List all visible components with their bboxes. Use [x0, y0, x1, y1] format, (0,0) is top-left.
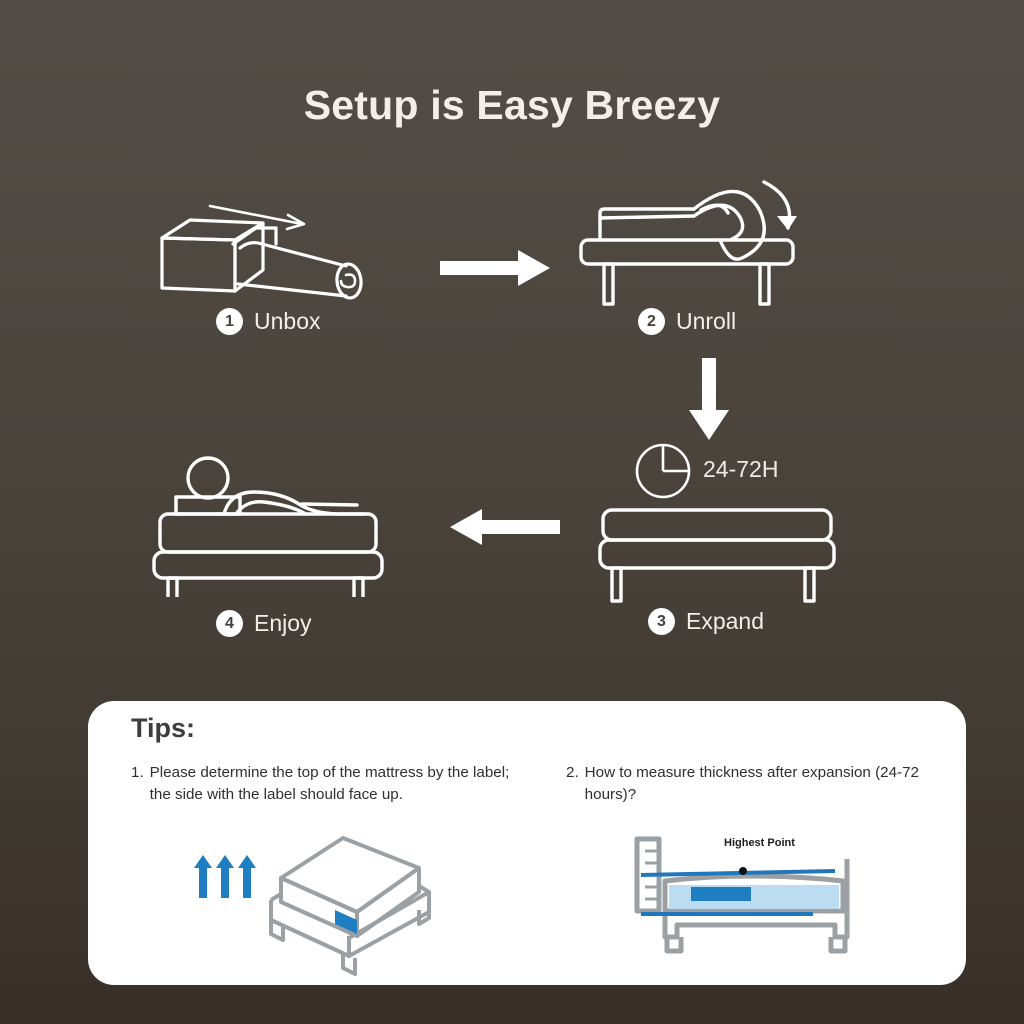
mattress-on-frame-with-label-icon	[183, 826, 433, 976]
step-3-badge: 3	[648, 608, 675, 635]
step-2-unroll: 2 Unroll	[578, 178, 848, 308]
tip-item-2: 2. How to measure thickness after expans…	[566, 762, 946, 807]
arrow-step2-to-step3	[687, 358, 731, 442]
step-4-badge: 4	[216, 610, 243, 637]
box-with-rolled-mattress-icon	[150, 178, 440, 308]
step-4-caption: 4 Enjoy	[216, 610, 312, 637]
page-title: Setup is Easy Breezy	[0, 82, 1024, 129]
tip-2-text: How to measure thickness after expansion…	[585, 762, 946, 807]
step-4-label: Enjoy	[254, 610, 312, 637]
mattress-label-tag-icon	[691, 887, 751, 901]
tip-1-number: 1.	[131, 762, 144, 807]
step-2-label: Unroll	[676, 308, 736, 335]
tips-card: Tips: 1. Please determine the top of the…	[88, 701, 966, 985]
arrow-step3-to-step4	[448, 509, 560, 545]
step-1-label: Unbox	[254, 308, 320, 335]
step-3-label: Expand	[686, 608, 764, 635]
expand-duration-label: 24-72H	[703, 456, 778, 483]
person-sleeping-on-bed-icon	[152, 452, 412, 597]
mattress-unrolling-on-base-icon	[578, 178, 848, 308]
infographic-page: Setup is Easy Breezy	[0, 0, 1024, 1024]
tip-item-1: 1. Please determine the top of the mattr…	[131, 762, 511, 807]
step-4-enjoy: 4 Enjoy	[152, 452, 412, 597]
top-measure-line	[641, 871, 835, 875]
arrow-step1-to-step2	[440, 250, 552, 286]
mattress-on-base-icon	[598, 508, 842, 606]
step-1-unbox: 1 Unbox	[150, 178, 440, 308]
step-2-badge: 2	[638, 308, 665, 335]
tips-heading: Tips:	[131, 713, 195, 744]
tip-1-figure	[183, 826, 433, 976]
tip-1-text: Please determine the top of the mattress…	[150, 762, 511, 807]
clock-icon	[634, 442, 692, 500]
airflow-arrows-icon	[194, 855, 256, 898]
step-1-badge: 1	[216, 308, 243, 335]
curved-unroll-arrow-icon	[764, 182, 797, 230]
tip-2-number: 2.	[566, 762, 579, 807]
step-3-caption: 3 Expand	[648, 608, 764, 635]
step-2-caption: 2 Unroll	[638, 308, 736, 335]
highest-point-label: Highest Point	[724, 837, 795, 849]
tip-2-figure: Highest Point	[595, 829, 905, 959]
highest-point-dot	[739, 867, 747, 875]
step-1-caption: 1 Unbox	[216, 308, 320, 335]
